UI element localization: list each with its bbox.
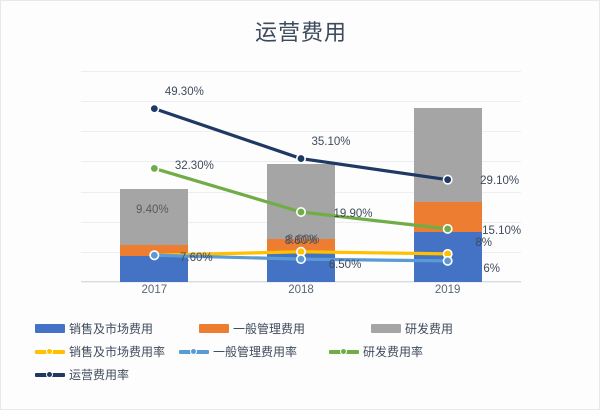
legend-item[interactable]: 运营费用率 xyxy=(35,366,129,383)
legend-line-swatch-icon xyxy=(35,347,65,356)
legend-line-swatch-icon xyxy=(35,370,65,379)
legend-item-label: 销售及市场费用 xyxy=(69,320,153,337)
legend-item-label: 销售及市场费用率 xyxy=(69,343,165,360)
legend-item[interactable]: 一般管理费用 xyxy=(199,320,305,337)
chart-card: 运营费用 8.60%8%7.60%6.50%6%32.30%19.90%15.1… xyxy=(0,0,600,410)
x-axis-tick-label: 2018 xyxy=(241,284,361,296)
legend-bar-swatch-icon xyxy=(199,324,229,333)
x-axis-tick-label: 2017 xyxy=(94,284,214,296)
chart-title: 运营费用 xyxy=(1,15,600,47)
legend-line-swatch-icon xyxy=(179,347,209,356)
legend-item[interactable]: 一般管理费用率 xyxy=(179,343,297,360)
legend-item[interactable]: 销售及市场费用率 xyxy=(35,343,165,360)
legend-item-label: 运营费用率 xyxy=(69,366,129,383)
x-axis-ticks: 201720182019 xyxy=(81,71,521,282)
legend-item-label: 研发费用 xyxy=(405,320,453,337)
gridline xyxy=(81,282,521,283)
legend-bar-swatch-icon xyxy=(35,324,65,333)
legend-row: 运营费用率 xyxy=(35,363,571,386)
legend-bar-swatch-icon xyxy=(371,324,401,333)
legend-item[interactable]: 销售及市场费用 xyxy=(35,320,153,337)
legend-item[interactable]: 研发费用率 xyxy=(329,343,423,360)
legend-item-label: 研发费用率 xyxy=(363,343,423,360)
chart-legend: 销售及市场费用一般管理费用研发费用销售及市场费用率一般管理费用率研发费用率运营费… xyxy=(35,317,571,386)
legend-line-swatch-icon xyxy=(329,347,359,356)
x-axis-tick-label: 2019 xyxy=(388,284,508,296)
legend-row: 销售及市场费用一般管理费用研发费用 xyxy=(35,317,571,340)
legend-item-label: 一般管理费用率 xyxy=(213,343,297,360)
legend-item-label: 一般管理费用 xyxy=(233,320,305,337)
legend-row: 销售及市场费用率一般管理费用率研发费用率 xyxy=(35,340,571,363)
legend-item[interactable]: 研发费用 xyxy=(371,320,453,337)
